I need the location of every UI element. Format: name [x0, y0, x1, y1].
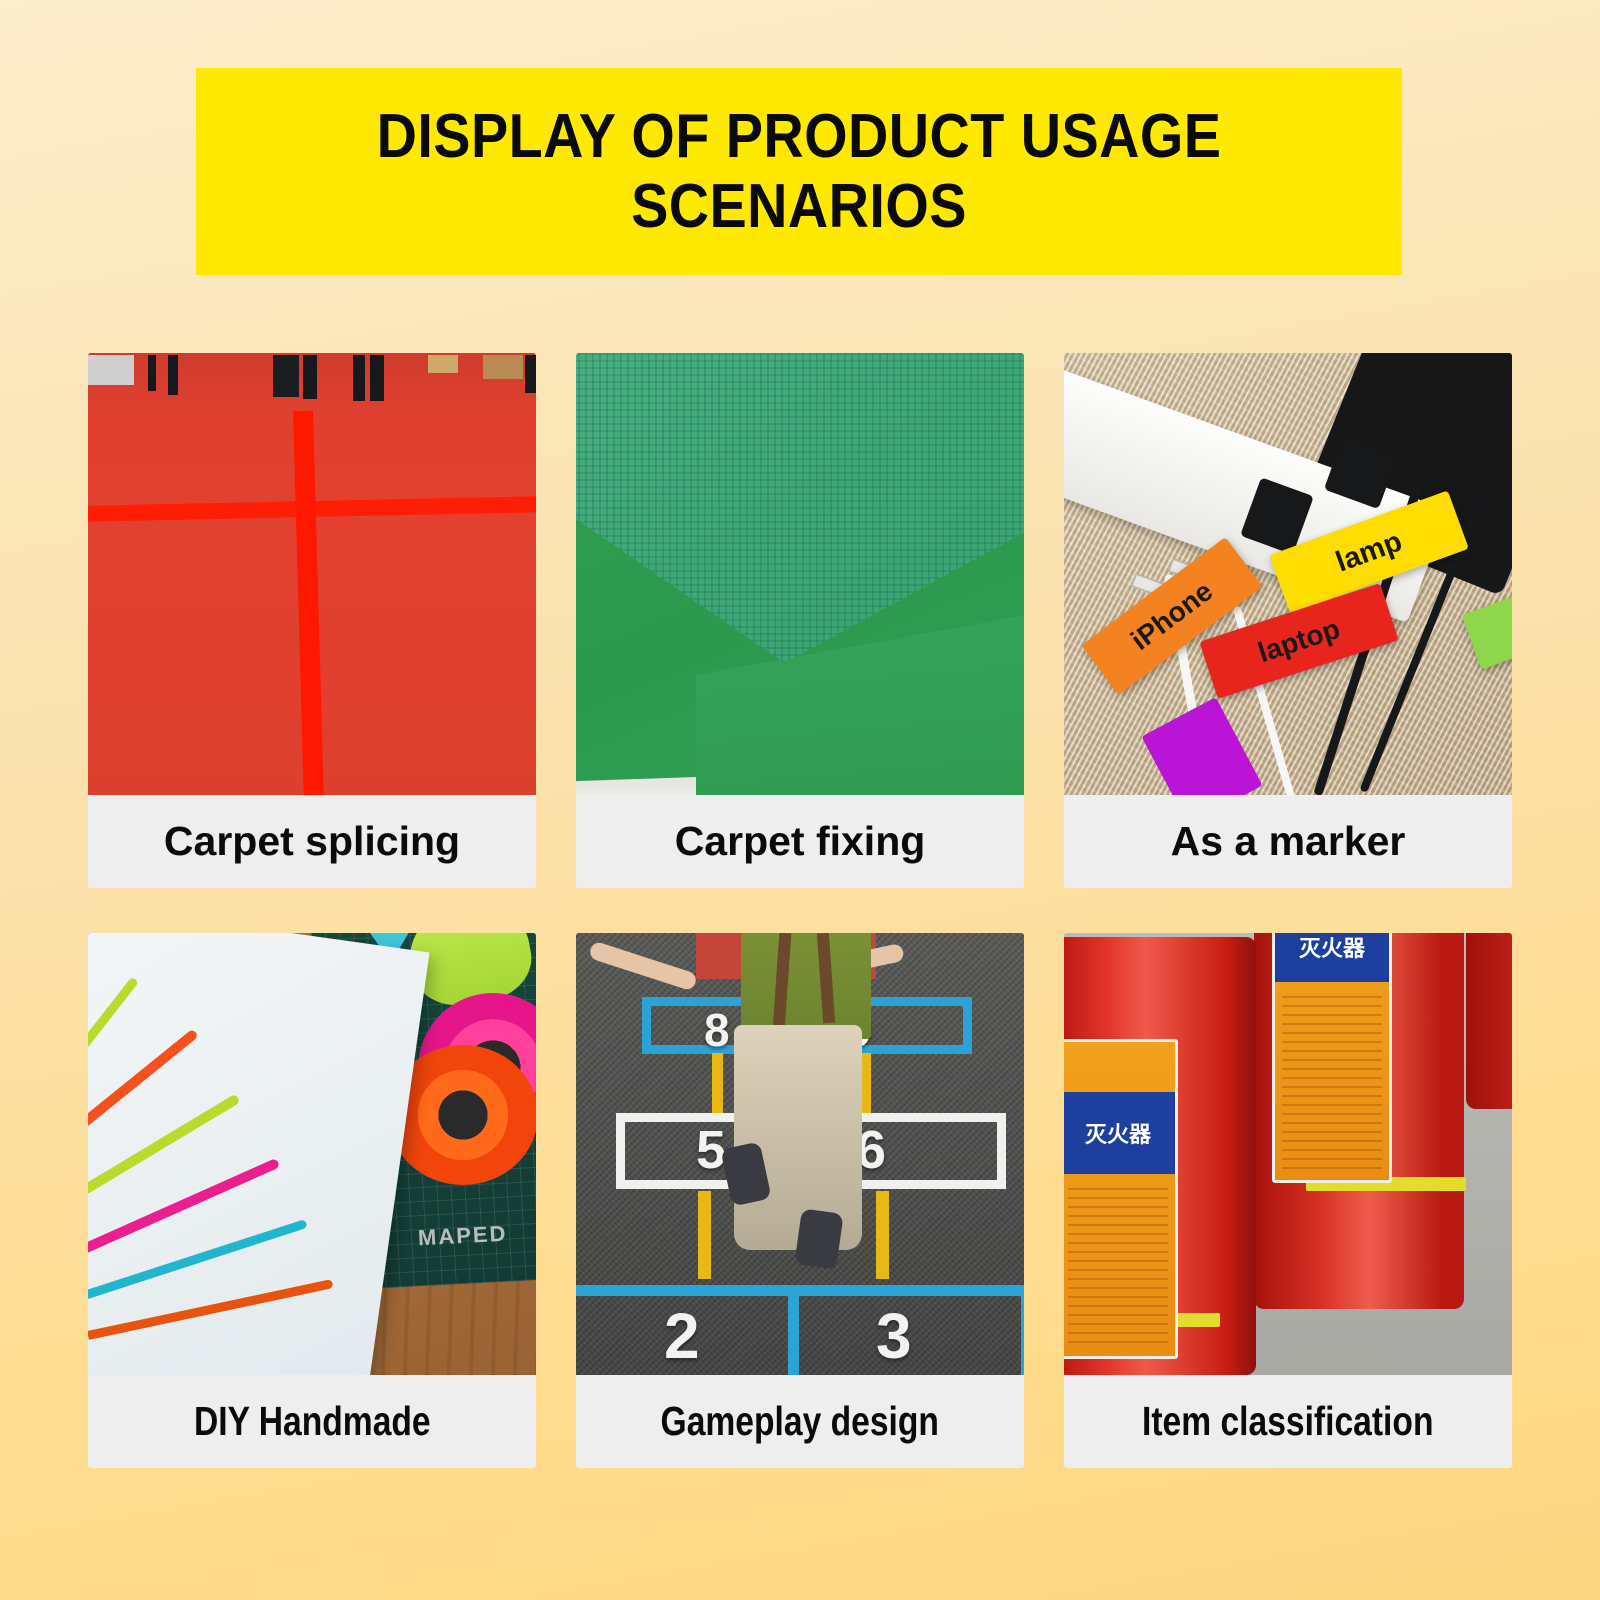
scenario-card-item-classification[interactable]: 灭火器 灭火器 Item classification: [1064, 933, 1512, 1468]
caption-diy-handmade: DIY Handmade: [88, 1375, 536, 1468]
extinguisher-label: 灭火器: [1064, 1039, 1178, 1359]
scenario-card-diy-handmade[interactable]: MAPED DIY Handmade: [88, 933, 536, 1468]
caption-text: DIY Handmade: [194, 1398, 431, 1445]
caption-text: Gameplay design: [661, 1398, 939, 1445]
scenario-card-carpet-fixing[interactable]: Carpet fixing: [576, 353, 1024, 888]
carpet-splicing-image: [88, 353, 536, 795]
caption-item-classification: Item classification: [1064, 1375, 1512, 1468]
title-banner: DISPLAY OF PRODUCT USAGE SCENARIOS: [196, 68, 1402, 275]
carpet-fixing-image: [576, 353, 1024, 795]
cable-tag-text: laptop: [1254, 613, 1344, 669]
caption-gameplay-design: Gameplay design: [576, 1375, 1024, 1468]
cable-tag-text: off: [1506, 602, 1512, 643]
caption-text: Carpet splicing: [164, 818, 460, 865]
page-title: DISPLAY OF PRODUCT USAGE SCENARIOS: [256, 102, 1341, 241]
diy-handmade-image: MAPED: [88, 933, 536, 1375]
caption-as-a-marker: As a marker: [1064, 795, 1512, 888]
scenario-card-as-a-marker[interactable]: off lamp iPhone laptop As a marker: [1064, 353, 1512, 888]
caption-text: Item classification: [1142, 1398, 1433, 1445]
scenario-card-gameplay-design[interactable]: 8 9 5 6 1 2 3: [576, 933, 1024, 1468]
caption-carpet-fixing: Carpet fixing: [576, 795, 1024, 888]
usage-scenario-grid: Carpet splicing Carpet fixing off: [88, 353, 1512, 1468]
as-a-marker-image: off lamp iPhone laptop: [1064, 353, 1512, 795]
cable-tag-text: lamp: [1332, 525, 1407, 579]
extinguisher-label: 灭火器: [1272, 933, 1392, 1183]
caption-text: Carpet fixing: [675, 818, 926, 865]
caption-text: As a marker: [1171, 818, 1406, 865]
maped-logo: MAPED: [417, 1221, 508, 1252]
scenario-card-carpet-splicing[interactable]: Carpet splicing: [88, 353, 536, 888]
gameplay-design-image: 8 9 5 6 1 2 3: [576, 933, 1024, 1375]
caption-carpet-splicing: Carpet splicing: [88, 795, 536, 888]
extinguisher-label-text: 灭火器: [1085, 1117, 1151, 1149]
extinguisher-label-text: 灭火器: [1299, 933, 1365, 963]
item-classification-image: 灭火器 灭火器: [1064, 933, 1512, 1375]
